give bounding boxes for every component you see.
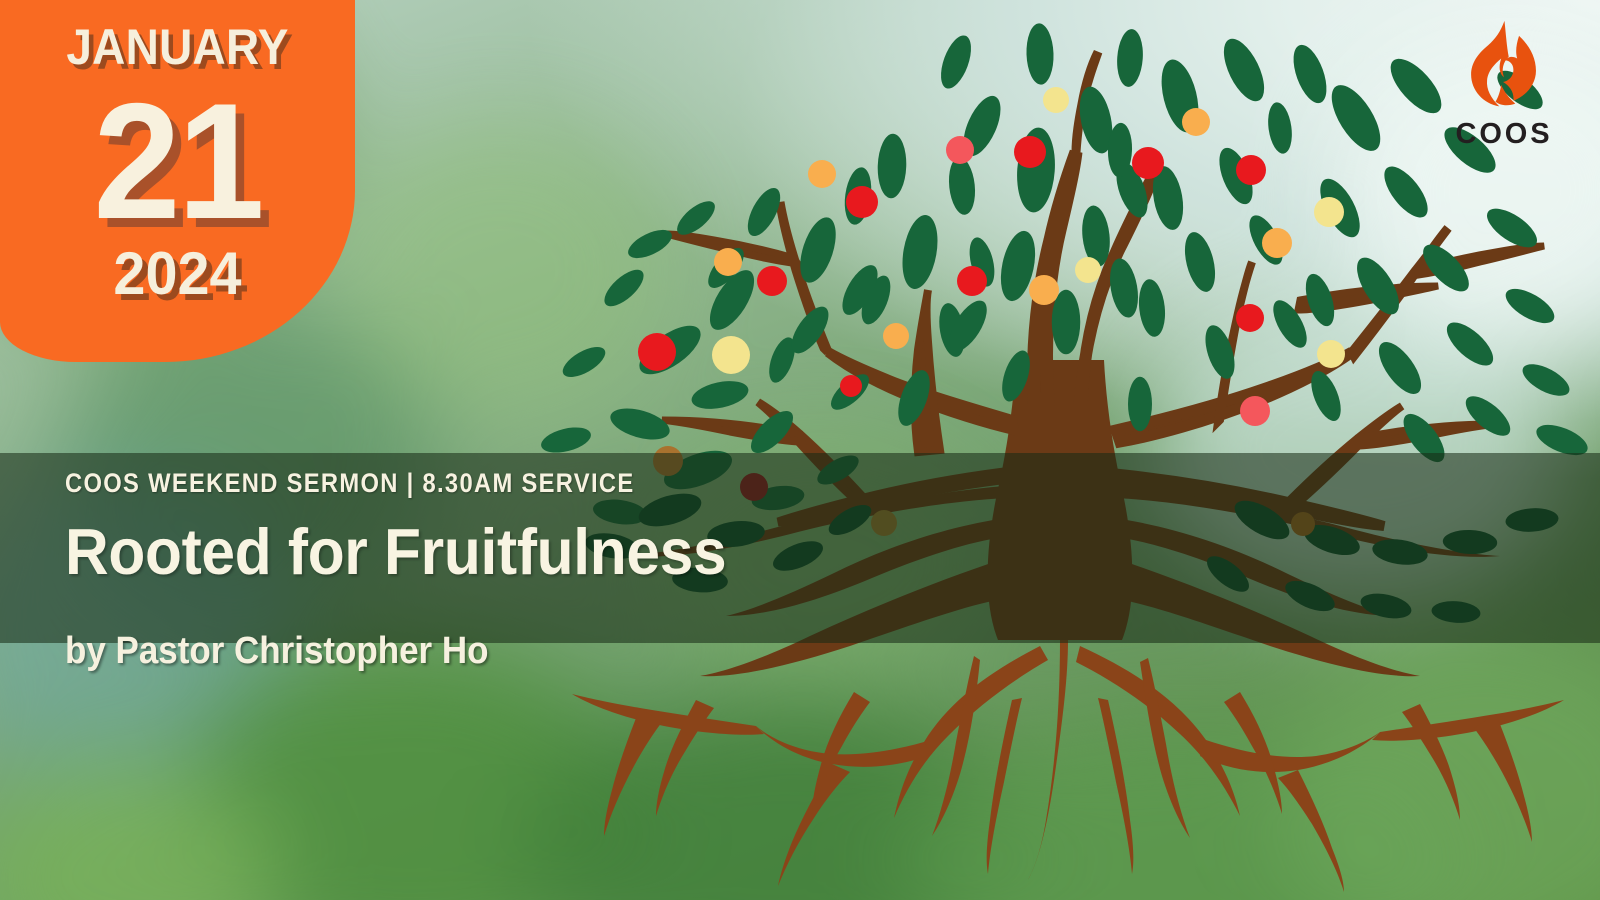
- service-eyebrow: COOS WEEKEND SERMON | 8.30AM SERVICE: [65, 470, 901, 497]
- speaker-byline: by Pastor Christopher Ho: [65, 632, 939, 670]
- flame-dove-icon: [1457, 18, 1551, 114]
- coos-wordmark: COOS: [1444, 120, 1564, 149]
- sermon-banner-graphic: COOS WEEKEND SERMON | 8.30AM SERVICE Roo…: [0, 0, 1600, 900]
- root-system: [572, 640, 1564, 892]
- sermon-title: Rooted for Fruitfulness: [65, 519, 949, 584]
- coos-logo: COOS: [1444, 18, 1564, 149]
- date-month: JANUARY: [14, 22, 341, 72]
- sermon-text-block: COOS WEEKEND SERMON | 8.30AM SERVICE Roo…: [65, 470, 1015, 670]
- date-badge: JANUARY 21 2024: [0, 0, 355, 362]
- tree-of-life-illustration: [520, 0, 1600, 900]
- date-day: 21: [9, 86, 346, 238]
- date-year: 2024: [7, 244, 348, 304]
